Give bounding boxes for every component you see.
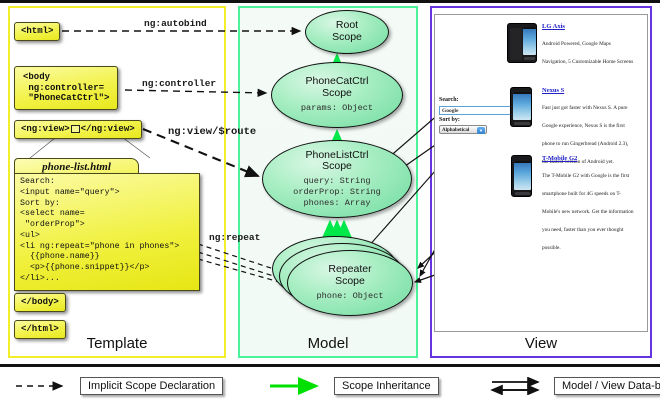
search-label: Search: (439, 97, 513, 105)
phone-list-template-card: phone-list.html Search: <input name="que… (14, 158, 200, 291)
list-item[interactable]: T-Mobile G2 The T-Mobile G2 with Google … (507, 155, 634, 254)
scope-root-name: Root Scope (332, 20, 362, 44)
scope-repeater-line1: Repeater (328, 263, 371, 275)
double-arrow-icon (488, 377, 546, 395)
scope-phonelistctrl: PhoneListCtrl Scope query: String orderP… (262, 140, 412, 218)
code-box-html-close: </html> (14, 320, 66, 339)
phone-thumbnail-lg-axis (507, 23, 537, 68)
scope-phonelistctrl-line2: Scope (322, 160, 352, 172)
diagram-canvas: Template Model View (0, 0, 660, 405)
legend-label: Implicit Scope Declaration (80, 377, 223, 395)
scope-root: Root Scope (305, 10, 389, 54)
phone-list-code: Search: <input name="query"> Sort by: <s… (14, 173, 200, 291)
legend: Implicit Scope Declaration Scope Inherit… (0, 371, 660, 405)
scope-phonecatctrl-name: PhoneCatCtrl Scope (305, 76, 368, 100)
scope-repeater-props: phone: Object (316, 291, 383, 302)
scope-root-line2: Scope (332, 31, 362, 43)
legend-item-implicit-scope-declaration: Implicit Scope Declaration (14, 377, 223, 395)
ngview-slot-icon (71, 125, 80, 133)
search-form: Search: Google Sort by: Alphabetical ▾ (439, 97, 513, 134)
scope-phonecatctrl-line2: Scope (322, 87, 352, 99)
edge-label-controller: ng:controller (142, 78, 216, 89)
scope-repeater-line2: Scope (335, 275, 365, 287)
scope-phonecatctrl-props: params: Object (301, 103, 373, 114)
scope-repeater: Repeater Scope phone: Object (287, 250, 413, 316)
legend-divider (0, 364, 660, 367)
phone-name-link[interactable]: LG Axis (542, 23, 634, 30)
edge-label-autobind: ng:autobind (144, 18, 207, 29)
scope-phonecatctrl: PhoneCatCtrl Scope params: Object (271, 62, 403, 128)
phone-name-link[interactable]: Nexus S (542, 87, 634, 94)
ngview-close-tag: </ng:view> (81, 124, 135, 134)
sort-select[interactable]: Alphabetical ▾ (439, 125, 487, 134)
legend-item-data-binding: Model / View Data-binding (488, 377, 660, 395)
green-arrow-icon (268, 377, 326, 395)
code-box-ngview: <ng:view></ng:view> (14, 120, 142, 139)
scope-phonecatctrl-line1: PhoneCatCtrl (305, 75, 368, 87)
top-rule (0, 0, 660, 3)
code-box-body-close: </body> (14, 293, 66, 312)
scope-phonelistctrl-props: query: String orderProp: String phones: … (293, 176, 381, 208)
phone-info-lg-axis: LG Axis Android Powered, Google Maps Nav… (542, 23, 634, 68)
phone-info-tmobile-g2: T-Mobile G2 The T-Mobile G2 with Google … (542, 155, 634, 254)
legend-label: Scope Inheritance (334, 377, 439, 395)
browser-preview: Search: Google Sort by: Alphabetical ▾ (434, 14, 648, 332)
legend-item-scope-inheritance: Scope Inheritance (268, 377, 439, 395)
ngview-open-tag: <ng:view> (21, 124, 70, 134)
phone-name-link[interactable]: T-Mobile G2 (542, 155, 634, 162)
list-item[interactable]: LG Axis Android Powered, Google Maps Nav… (507, 23, 634, 68)
phone-snippet: The T-Mobile G2 with Google is the first… (542, 173, 634, 251)
scope-phonelistctrl-name: PhoneListCtrl Scope (305, 150, 368, 174)
scope-phonelistctrl-line1: PhoneListCtrl (305, 149, 368, 161)
phone-thumbnail-tmobile-g2 (507, 155, 537, 254)
edge-label-ngrepeat: ng:repeat (209, 232, 260, 243)
legend-label: Model / View Data-binding (554, 377, 660, 395)
phone-snippet: Android Powered, Google Maps Navigation,… (542, 41, 633, 65)
edge-label-ngview-route: ng:view/$route (168, 126, 256, 138)
code-box-body-open: <body ng:controller= "PhoneCatCtrl"> (14, 66, 118, 110)
dashed-arrow-icon (14, 377, 72, 395)
sort-label: Sort by: (439, 117, 513, 125)
code-box-html-open: <html> (14, 22, 60, 41)
phone-list-filename: phone-list.html (14, 158, 139, 174)
sort-select-value: Alphabetical (442, 128, 469, 133)
panel-view-label: View (432, 335, 650, 352)
chevron-down-icon: ▾ (477, 127, 485, 134)
scope-repeater-name: Repeater Scope (328, 264, 371, 288)
scope-root-line1: Root (336, 19, 358, 31)
search-input[interactable]: Google (439, 106, 511, 115)
panel-model-label: Model (240, 335, 416, 352)
